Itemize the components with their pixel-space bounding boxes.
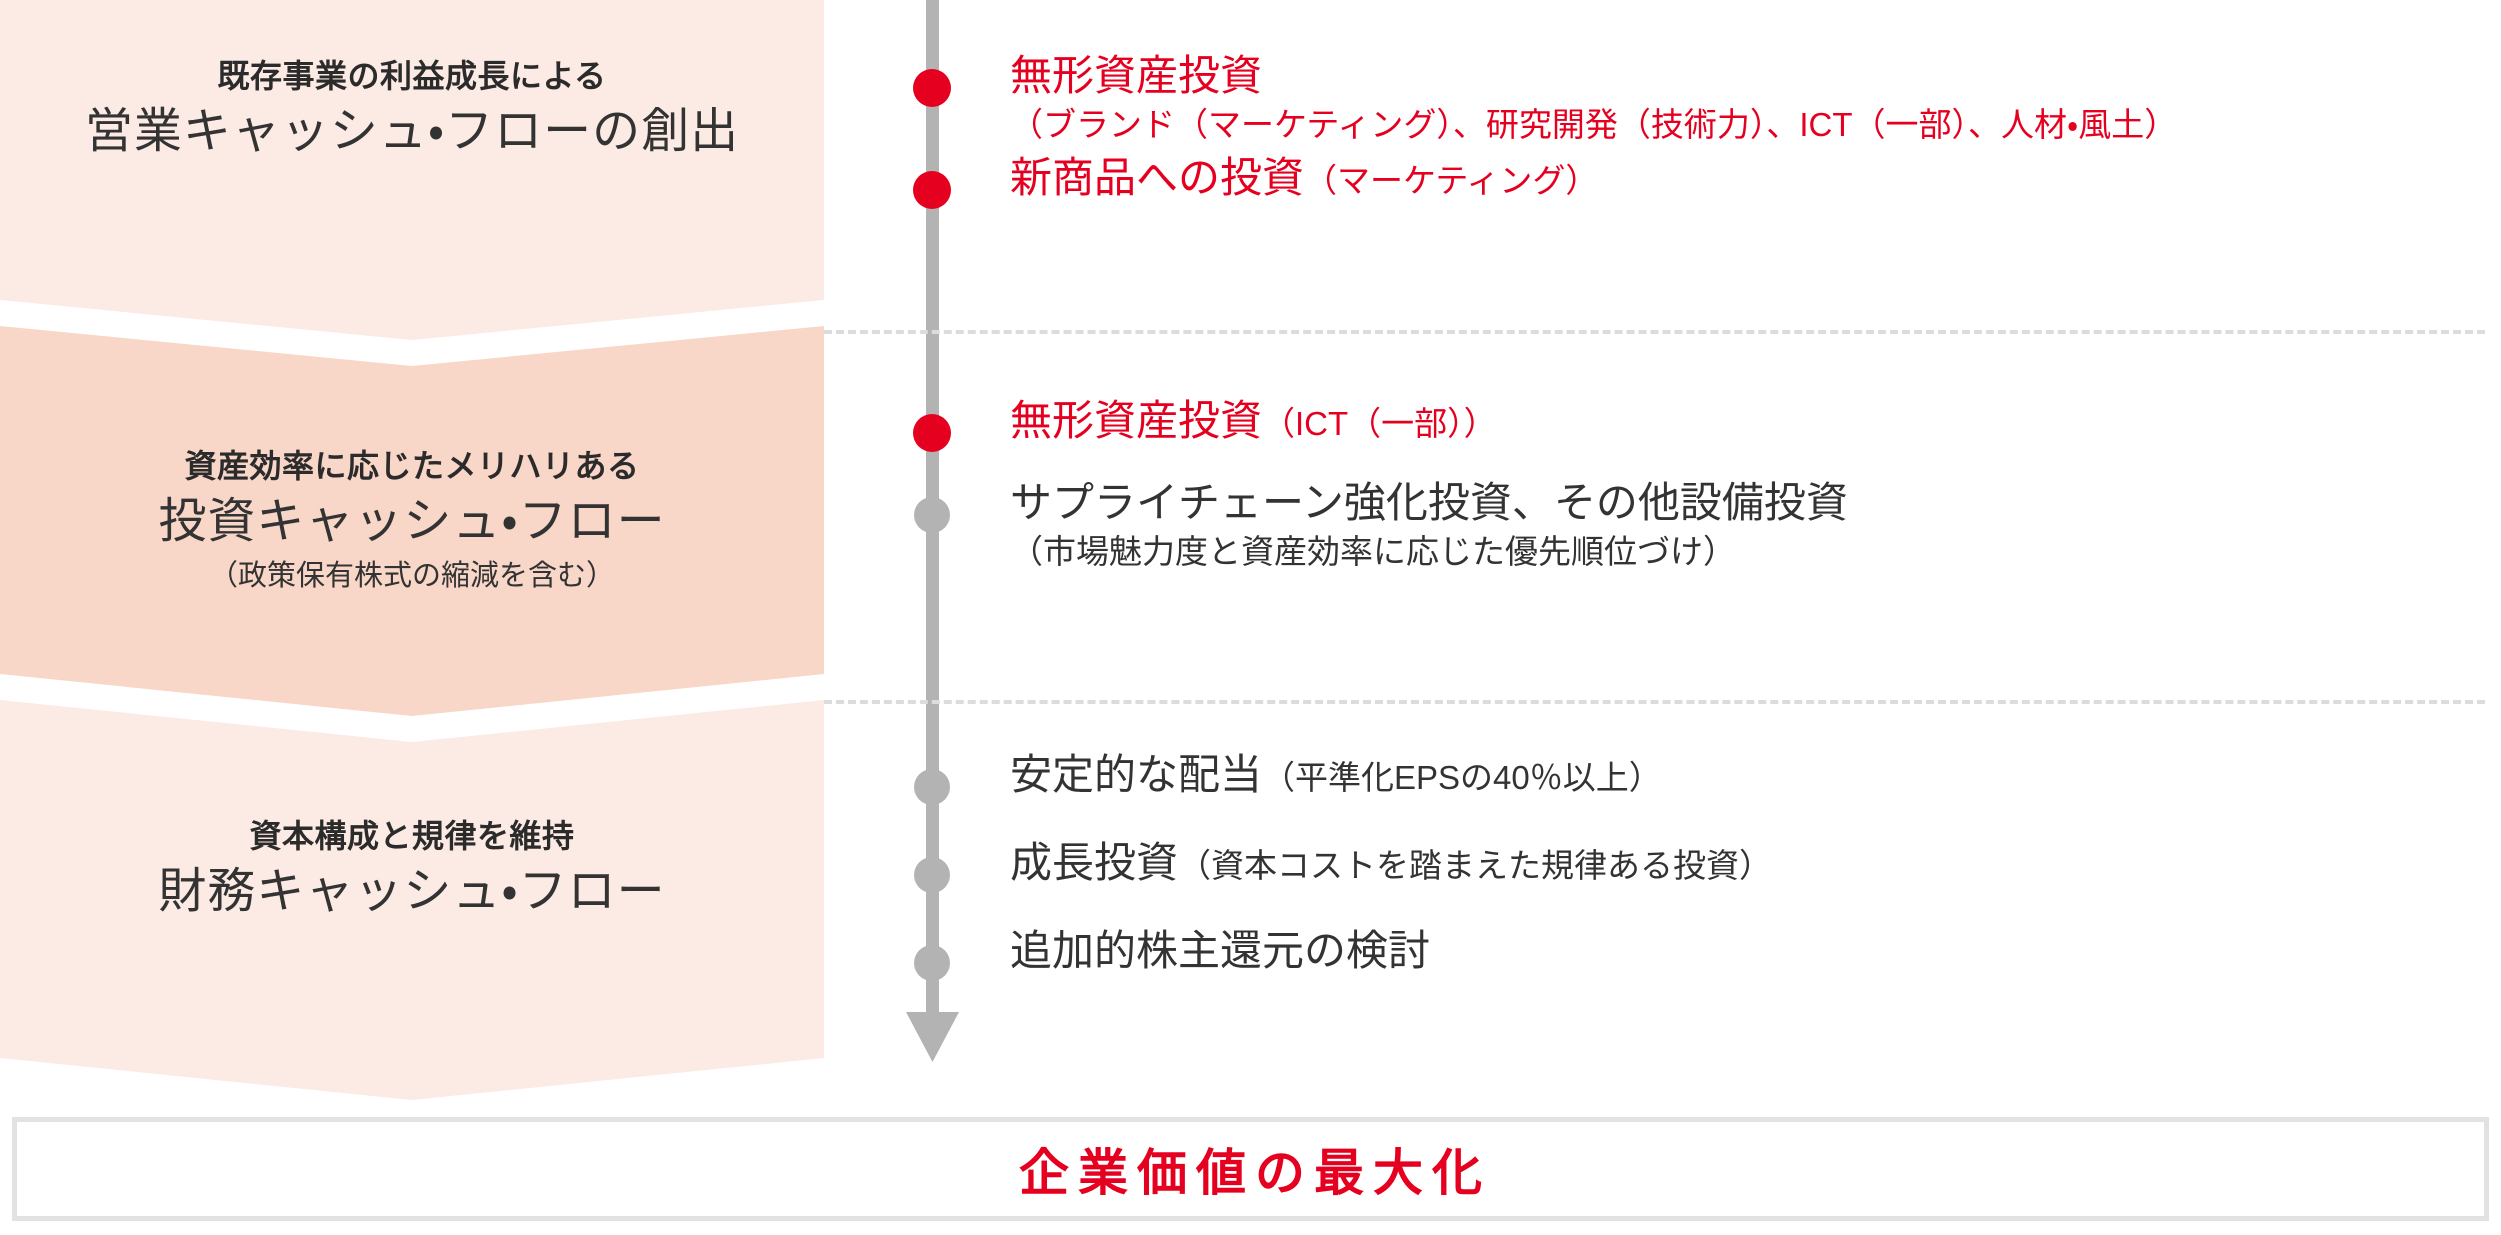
list-item-main-suffix: （マーケティング）: [1304, 162, 1598, 199]
panel-investing-kicker: 資産効率に応じたメリハリある: [0, 450, 824, 482]
list-item-main: 無形資産投資: [1010, 52, 2481, 99]
panel-investing-note: （政策保有株式の縮減を含む）: [0, 562, 824, 591]
list-item: 成長投資（資本コストを踏まえた規律ある投資）: [1010, 839, 2481, 886]
red-bullet-dot-icon: [913, 69, 951, 107]
list-item-main: 安定的な配当（平準化EPSの40％以上）: [1010, 751, 2481, 798]
panel-operating-cash-flow: 既存事業の利益成長による 営業キャッシュ・フローの創出: [0, 0, 824, 340]
red-bullet-dot-icon: [913, 171, 951, 209]
list-item-sub: （市場魅力度と資産効率に応じた優先順位づけ）: [1010, 532, 2481, 572]
list-item-main: 無形資産投資（ICT（一部））: [1010, 397, 2481, 444]
list-item-main-label: 新商品への投資: [1010, 154, 1304, 201]
gray-bullet-dot-icon: [914, 857, 950, 893]
divider-investing-financing: [824, 700, 2485, 704]
panel-investing-cash-flow: 資産効率に応じたメリハリある 投資キャッシュ・フロー （政策保有株式の縮減を含む…: [0, 326, 824, 716]
list-item: 無形資産投資 （ブランド（マーケティング）、研究開発（技術力）、ICT（一部）、…: [1010, 52, 2481, 145]
list-item-main: 成長投資（資本コストを踏まえた規律ある投資）: [1010, 839, 2481, 886]
gray-bullet-dot-icon: [914, 769, 950, 805]
list-item-main: サプライチェーン強化投資、その他設備投資: [1010, 479, 2481, 526]
down-arrow-icon: [900, 1012, 965, 1066]
gray-bullet-dot-icon: [914, 945, 950, 981]
panel-operating-kicker: 既存事業の利益成長による: [0, 60, 824, 92]
list-item: 安定的な配当（平準化EPSの40％以上）: [1010, 751, 2481, 798]
panel-financing-title: 財務キャッシュ・フロー: [0, 868, 824, 916]
list-item-main-label: 安定的な配当: [1010, 751, 1262, 798]
list-item: 追加的株主還元の検討: [1010, 927, 2481, 974]
panel-investing-title: 投資キャッシュ・フロー: [0, 498, 824, 546]
diagram-canvas: 既存事業の利益成長による 営業キャッシュ・フローの創出 資産効率に応じたメリハリ…: [0, 0, 2501, 1235]
list-item: 無形資産投資（ICT（一部））: [1010, 397, 2481, 444]
list-item-main-suffix: （ICT（一部））: [1262, 405, 1497, 442]
list-item: サプライチェーン強化投資、その他設備投資 （市場魅力度と資産効率に応じた優先順位…: [1010, 479, 2481, 572]
list-item-main: 新商品への投資（マーケティング）: [1010, 154, 2481, 201]
panel-operating-shape: [0, 0, 824, 340]
panel-financing-text: 資本構成と規律を維持 財務キャッシュ・フロー: [0, 820, 824, 916]
gray-bullet-dot-icon: [914, 497, 950, 533]
panel-financing-kicker: 資本構成と規律を維持: [0, 820, 824, 852]
panel-investing-text: 資産効率に応じたメリハリある 投資キャッシュ・フロー （政策保有株式の縮減を含む…: [0, 450, 824, 591]
list-item-main-suffix: （資本コストを踏まえた規律ある投資）: [1178, 847, 1772, 884]
list-item-main-label: 無形資産投資: [1010, 397, 1262, 444]
list-item-main: 追加的株主還元の検討: [1010, 927, 2481, 974]
list-item-main-label: サプライチェーン強化投資、その他設備投資: [1010, 479, 1848, 526]
panel-operating-text: 既存事業の利益成長による 営業キャッシュ・フローの創出: [0, 60, 824, 156]
red-bullet-dot-icon: [913, 414, 951, 452]
list-item-main-label: 追加的株主還元の検討: [1010, 927, 1430, 974]
list-item-main-label: 無形資産投資: [1010, 52, 1262, 99]
list-item-main-suffix: （平準化EPSの40％以上）: [1262, 759, 1662, 796]
panel-operating-title: 営業キャッシュ・フローの創出: [0, 108, 824, 156]
goal-box: 企業価値の最大化: [12, 1117, 2489, 1221]
goal-label: 企業価値の最大化: [1010, 1133, 1491, 1205]
list-item-sub: （ブランド（マーケティング）、研究開発（技術力）、ICT（一部）、人材・風土）: [1010, 105, 2481, 145]
panel-financing-cash-flow: 資本構成と規律を維持 財務キャッシュ・フロー: [0, 700, 824, 1100]
list-item: 新商品への投資（マーケティング）: [1010, 154, 2481, 201]
divider-operating-investing: [824, 330, 2485, 334]
list-item-main-label: 成長投資: [1010, 839, 1178, 886]
